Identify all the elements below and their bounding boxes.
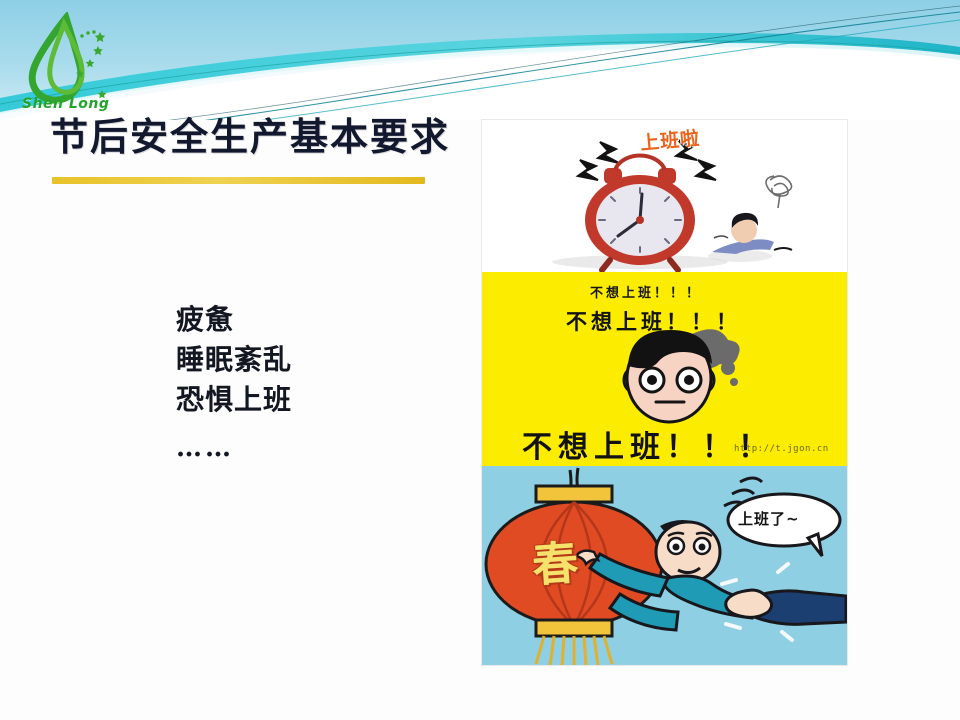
bullet-ellipsis: ……	[176, 428, 292, 468]
bullet-item-1: 疲惫	[176, 300, 292, 340]
brand-logo: Shen Long	[14, 12, 118, 108]
speech-bubble-text: 上班了~	[738, 508, 800, 529]
yellow-caption-medium: 不想上班！！！	[566, 306, 741, 336]
illustration-panel-pulled-back-to-work: 春 上班了~	[482, 466, 847, 665]
title-underline-rule	[52, 177, 425, 184]
illustration-panel-alarm-clock: 上班啦	[482, 120, 847, 272]
bullet-list: 疲惫 睡眠紊乱 恐惧上班 ……	[176, 300, 292, 468]
banner-waves-graphic	[0, 0, 960, 120]
slide-illustration: 上班啦 不想上班！！！ 不想上班！！！ 不想上班！！！ http://t.j	[482, 120, 847, 665]
slide-canvas: Shen Long 节后安全生产基本要求 疲惫 睡眠紊乱 恐惧上班 ……	[0, 0, 960, 720]
water-drop-leaf-icon	[14, 12, 118, 108]
slide-banner	[0, 0, 960, 120]
watermark-url: http://t.jgon.cn	[734, 444, 829, 454]
bullet-item-3: 恐惧上班	[176, 380, 292, 420]
page-title: 节后安全生产基本要求	[50, 106, 450, 161]
yellow-caption-small: 不想上班！！！	[590, 282, 702, 301]
lantern-character: 春	[530, 526, 580, 595]
illustration-panel-dont-want-to-work: 不想上班！！！ 不想上班！！！ 不想上班！！！ http://t.jgon.cn	[482, 272, 847, 466]
alarm-clock-caption: 上班啦	[639, 123, 701, 155]
bullet-item-2: 睡眠紊乱	[176, 340, 292, 380]
